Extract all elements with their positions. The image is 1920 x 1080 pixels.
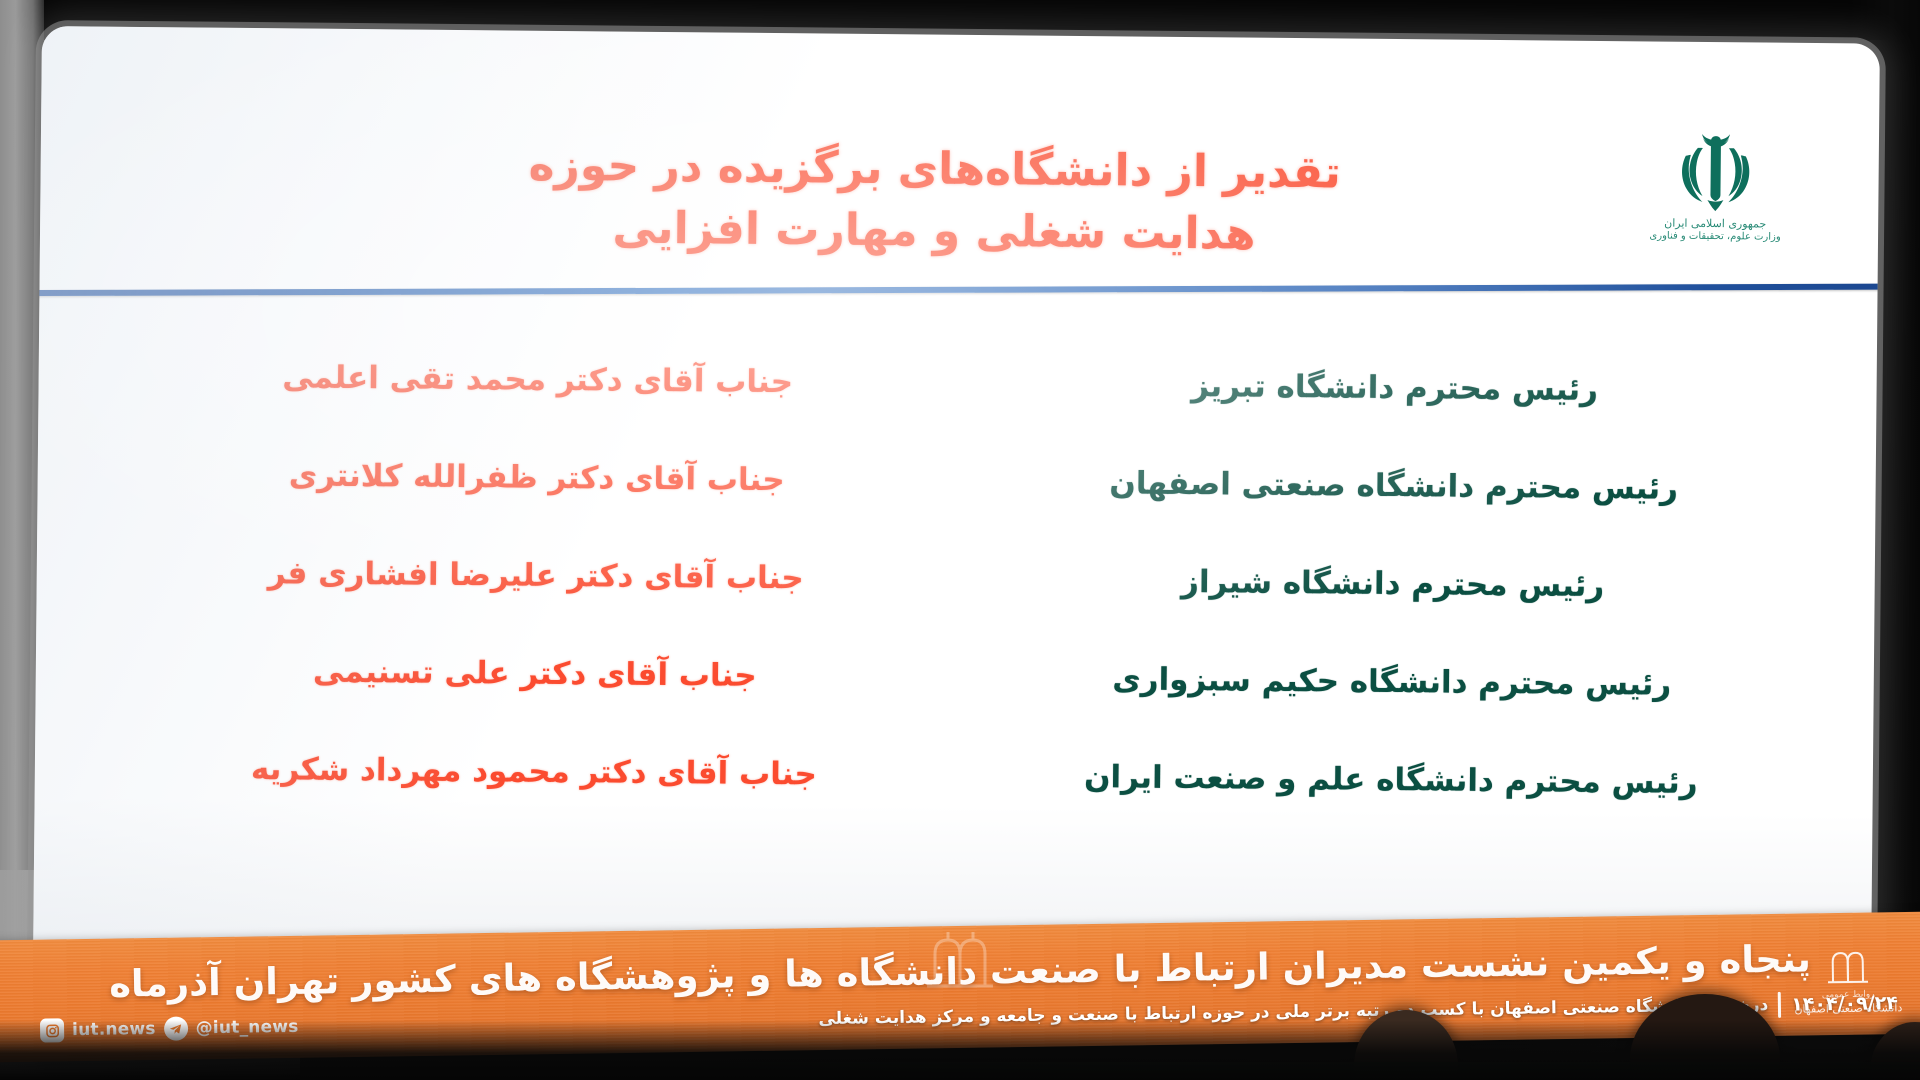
honouree-name: جناب آقای دکتر ظفرالله کلانتری bbox=[158, 454, 916, 502]
university-logo-icon bbox=[1825, 946, 1872, 987]
list-item: رئیس محترم دانشگاه علم و صنعت ایران جناب… bbox=[154, 719, 1803, 833]
emblem-caption-ministry: وزارت علوم، تحقیقات و فناوری bbox=[1610, 230, 1820, 245]
honouree-role: رئیس محترم دانشگاه صنعتی اصفهان bbox=[981, 462, 1805, 510]
list-item: رئیس محترم دانشگاه حکیم سبزواری جناب آقا… bbox=[155, 621, 1804, 735]
honouree-name: جناب آقای دکتر محمد تقی اعلمی bbox=[158, 356, 916, 404]
page-title-line-2: هدایت شغلی و مهارت افزایی bbox=[290, 195, 1579, 270]
honouree-name: جناب آقای دکتر علیرضا افشاری فر bbox=[157, 552, 915, 600]
honouree-role: رئیس محترم دانشگاه شیراز bbox=[981, 560, 1805, 608]
ticker-separator bbox=[1778, 992, 1781, 1018]
projected-slide: جمهوری اسلامی ایران وزارت علوم، تحقیقات … bbox=[33, 26, 1880, 984]
slide-content: جمهوری اسلامی ایران وزارت علوم، تحقیقات … bbox=[33, 26, 1880, 984]
ticker-date: ۱۴۰۴/۰۹/۲۴ bbox=[1791, 992, 1898, 1016]
honouree-role: رئیس محترم دانشگاه تبریز bbox=[982, 364, 1806, 412]
emblem-glyph bbox=[1667, 130, 1764, 215]
projection-photo: جمهوری اسلامی ایران وزارت علوم، تحقیقات … bbox=[0, 0, 1920, 1080]
honouree-name: جناب آقای دکتر محمود مهرداد شکریه bbox=[155, 748, 913, 796]
iran-national-emblem: جمهوری اسلامی ایران وزارت علوم، تحقیقات … bbox=[1610, 129, 1821, 281]
list-item: رئیس محترم دانشگاه شیراز جناب آقای دکتر … bbox=[156, 523, 1805, 637]
bottom-vignette bbox=[0, 1020, 1920, 1080]
slide-header: جمهوری اسلامی ایران وزارت علوم، تحقیقات … bbox=[40, 26, 1880, 296]
page-title: تقدیر از دانشگاه‌های برگزیده در حوزه هدا… bbox=[290, 132, 1579, 269]
honouree-name: جناب آقای دکتر علی تسنیمی bbox=[156, 650, 914, 698]
honouree-role: رئیس محترم دانشگاه حکیم سبزواری bbox=[980, 658, 1804, 706]
list-item: رئیس محترم دانشگاه تبریز جناب آقای دکتر … bbox=[158, 327, 1807, 441]
list-item: رئیس محترم دانشگاه صنعتی اصفهان جناب آقا… bbox=[157, 425, 1806, 539]
honouree-role: رئیس محترم دانشگاه علم و صنعت ایران bbox=[979, 756, 1803, 804]
honouree-list: رئیس محترم دانشگاه تبریز جناب آقای دکتر … bbox=[34, 326, 1877, 864]
